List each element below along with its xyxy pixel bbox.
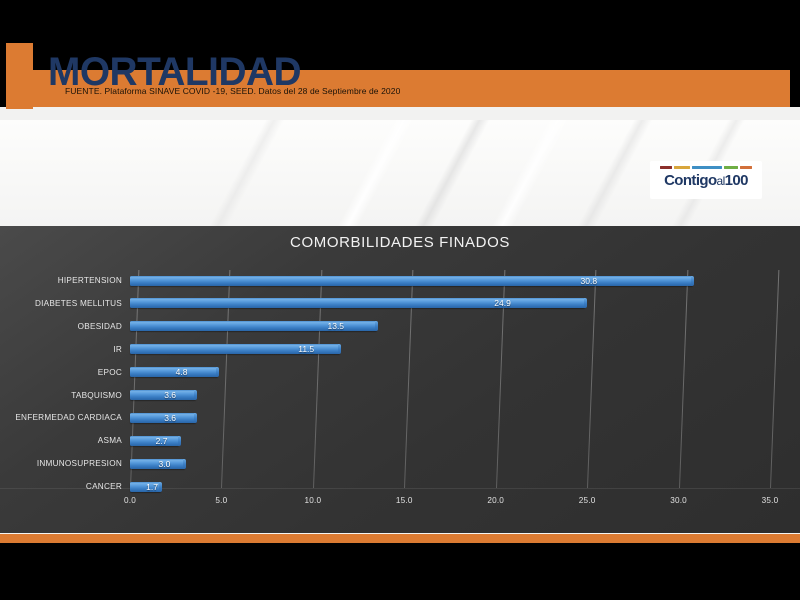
category-label: ENFERMEDAD CARDIACA xyxy=(0,413,122,422)
x-tick-label: 15.0 xyxy=(396,496,413,505)
category-label: IR xyxy=(0,345,122,354)
plot-area: HIPERTENSION30.8DIABETES MELLITUS24.9OBE… xyxy=(0,266,800,498)
logo-dash-3 xyxy=(692,166,722,170)
category-label: CANCER xyxy=(0,482,122,491)
logo-text: Contigoal100 xyxy=(650,173,762,190)
logo-text-contigo: Contigo xyxy=(664,172,716,189)
bar-end-cap xyxy=(691,276,694,286)
bar-end-cap xyxy=(584,298,587,308)
x-tick-label: 10.0 xyxy=(304,496,321,505)
logo-text-100: 100 xyxy=(725,172,748,189)
bar-row: CANCER1.7 xyxy=(0,475,800,498)
bar-value-label: 2.7 xyxy=(156,436,168,446)
bar xyxy=(130,459,185,469)
bar-rows: HIPERTENSION30.8DIABETES MELLITUS24.9OBE… xyxy=(0,266,800,498)
title-accent-bar xyxy=(6,43,33,109)
bar-row: OBESIDAD13.5 xyxy=(0,315,800,338)
x-tick-label: 5.0 xyxy=(215,496,227,505)
bar-row: HIPERTENSION30.8 xyxy=(0,269,800,292)
bar-end-cap xyxy=(194,390,197,400)
bar xyxy=(130,367,218,377)
chart-title: COMORBILIDADES FINADOS xyxy=(0,234,800,251)
category-label: ASMA xyxy=(0,436,122,445)
bar-end-cap xyxy=(338,344,341,354)
bar-value-label: 3.0 xyxy=(159,459,171,469)
bottom-accent-strip xyxy=(0,533,800,543)
logo-text-al: al xyxy=(717,174,725,188)
bar-value-label: 1.7 xyxy=(146,482,158,492)
bar-value-label: 3.6 xyxy=(164,390,176,400)
bar-end-cap xyxy=(194,413,197,423)
x-tick-label: 25.0 xyxy=(579,496,596,505)
bar-value-label: 30.8 xyxy=(581,276,598,286)
bar-value-label: 4.8 xyxy=(176,367,188,377)
bar xyxy=(130,436,179,446)
category-label: TABQUISMO xyxy=(0,391,122,400)
bar-row: DIABETES MELLITUS24.9 xyxy=(0,292,800,315)
slide-root: FUENTE. Plataforma SINAVE COVID -19, SEE… xyxy=(0,0,800,600)
logo-dash-5 xyxy=(740,166,752,170)
logo-dash-1 xyxy=(660,166,672,170)
bar-end-cap xyxy=(183,459,186,469)
bar-row: IR11.5 xyxy=(0,338,800,361)
logo-dash-2 xyxy=(674,166,690,170)
x-axis-tick-labels: 0.05.010.015.020.025.030.035.0 xyxy=(0,496,800,512)
bar xyxy=(130,276,693,286)
chart-panel: COMORBILIDADES FINADOS HIPERTENSION30.8D… xyxy=(0,226,800,533)
logo-contigo-al-100: Contigoal100 xyxy=(650,161,762,199)
bar-row: EPOC4.8 xyxy=(0,361,800,384)
category-label: DIABETES MELLITUS xyxy=(0,299,122,308)
bar-end-cap xyxy=(159,482,162,492)
category-label: OBESIDAD xyxy=(0,322,122,331)
bar xyxy=(130,413,196,423)
bar-row: TABQUISMO3.6 xyxy=(0,384,800,407)
page-title: MORTALIDAD xyxy=(48,52,301,92)
logo-dash-4 xyxy=(724,166,738,170)
x-tick-label: 0.0 xyxy=(124,496,136,505)
bar-value-label: 13.5 xyxy=(327,321,344,331)
bar xyxy=(130,390,196,400)
bar-row: INMUNOSUPRESION3.0 xyxy=(0,452,800,475)
x-tick-label: 30.0 xyxy=(670,496,687,505)
category-label: EPOC xyxy=(0,368,122,377)
bar-value-label: 24.9 xyxy=(494,298,511,308)
logo-dashes xyxy=(650,165,762,170)
bar-value-label: 11.5 xyxy=(298,344,314,354)
bar-end-cap xyxy=(178,436,181,446)
bar-end-cap xyxy=(216,367,219,377)
bar-row: ENFERMEDAD CARDIACA3.6 xyxy=(0,406,800,429)
bar-row: ASMA2.7 xyxy=(0,429,800,452)
category-label: INMUNOSUPRESION xyxy=(0,459,122,468)
x-tick-label: 35.0 xyxy=(762,496,779,505)
x-tick-label: 20.0 xyxy=(487,496,504,505)
bar xyxy=(130,298,585,308)
category-label: HIPERTENSION xyxy=(0,276,122,285)
bar-end-cap xyxy=(375,321,378,331)
bar-value-label: 3.6 xyxy=(164,413,176,423)
